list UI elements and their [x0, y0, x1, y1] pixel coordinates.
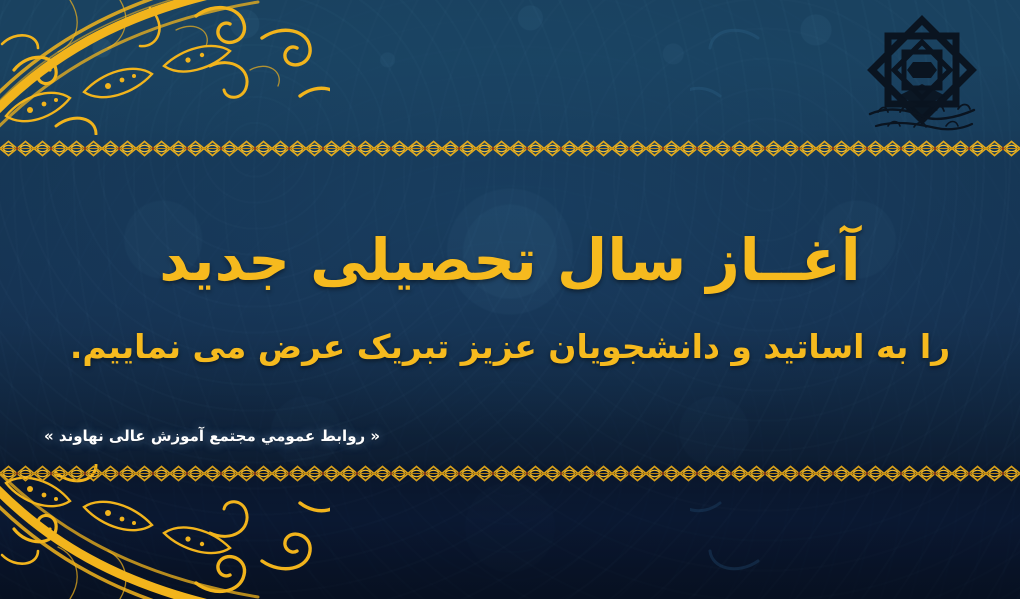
page-title: آغــاز سال تحصیلی جدید: [0, 226, 1020, 294]
page-subtitle: را به اساتید و دانشجویان عزیز تبریک عرض …: [0, 326, 1020, 367]
congratulations-banner: آغــاز سال تحصیلی جدید را به اساتید و دا…: [0, 0, 1020, 599]
attribution-text: « روابط عمومي مجتمع آموزش عالی نهاوند »: [44, 427, 380, 445]
background-vignette: [0, 0, 1020, 599]
